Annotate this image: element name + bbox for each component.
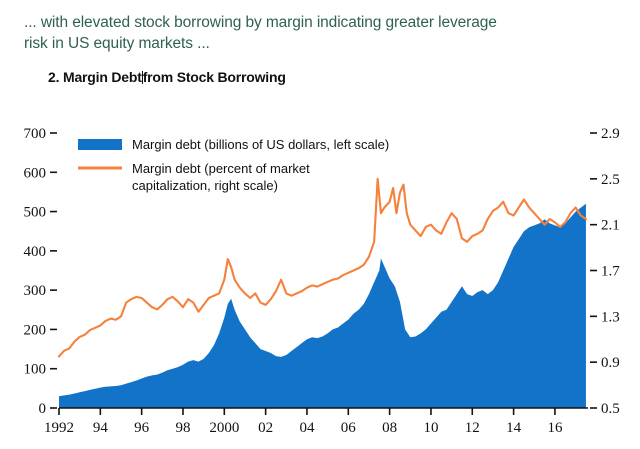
page-title: 2. Margin Debtfrom Stock Borrowing: [48, 69, 286, 85]
x-axis-tick-label: 04: [299, 420, 315, 436]
figure-header-text: ... with elevated stock borrowing by mar…: [24, 12, 624, 54]
chart-figure: ... with elevated stock borrowing by mar…: [0, 0, 640, 449]
x-axis-tick-label: 96: [134, 420, 150, 436]
x-axis-tick-label: 94: [93, 420, 109, 436]
panel-title-part-1: Margin Debt: [63, 69, 142, 85]
header-line-2: risk in US equity markets ...: [24, 33, 624, 54]
y-axis-right-tick-label: 1.7: [601, 264, 620, 280]
y-axis-left-tick-label: 300: [24, 283, 47, 299]
x-axis-tick-label: 1992: [44, 420, 74, 436]
panel-title-part-2: from Stock Borrowing: [143, 69, 286, 85]
x-axis-tick-label: 2000: [209, 420, 239, 436]
series-area-margin-debt-level: [59, 204, 586, 408]
y-axis-right-tick-label: 0.5: [601, 401, 620, 417]
x-axis-tick-label: 02: [258, 420, 273, 436]
y-axis-left-tick-label: 200: [24, 322, 47, 338]
y-axis-right-tick-label: 1.3: [601, 309, 620, 325]
legend-label-margin-debt-level: Margin debt (billions of US dollars, lef…: [132, 137, 389, 152]
margin-debt-chart: 01002003004005006007000.50.91.31.72.12.5…: [0, 100, 640, 449]
y-axis-left-tick-label: 400: [24, 244, 47, 260]
x-axis-tick-label: 06: [341, 420, 357, 436]
panel-number: 2.: [48, 69, 59, 85]
y-axis-right-tick-label: 2.1: [601, 218, 620, 234]
legend-label-margin-debt-percent-line1: Margin debt (percent of market: [132, 161, 310, 176]
y-axis-right-tick-label: 2.5: [601, 172, 620, 188]
legend-swatch-margin-debt-level: [78, 139, 122, 150]
plot-area: 01002003004005006007000.50.91.31.72.12.5…: [0, 100, 640, 449]
header-line-1: ... with elevated stock borrowing by mar…: [24, 12, 624, 33]
y-axis-right-tick-label: 2.9: [601, 126, 620, 142]
y-axis-left-tick-label: 600: [24, 165, 47, 181]
x-axis-tick-label: 10: [423, 420, 438, 436]
y-axis-right-tick-label: 0.9: [601, 355, 620, 371]
y-axis-left-tick-label: 500: [24, 205, 47, 221]
y-axis-left-tick-label: 100: [24, 362, 47, 378]
x-axis-tick-label: 14: [506, 420, 522, 436]
y-axis-left-tick-label: 0: [39, 401, 47, 417]
x-axis-tick-label: 12: [465, 420, 480, 436]
x-axis-tick-label: 98: [175, 420, 190, 436]
x-axis-tick-label: 08: [382, 420, 397, 436]
x-axis-tick-label: 16: [547, 420, 563, 436]
legend-label-margin-debt-percent-line2: capitalization, right scale): [132, 178, 278, 193]
y-axis-left-tick-label: 700: [24, 126, 47, 142]
